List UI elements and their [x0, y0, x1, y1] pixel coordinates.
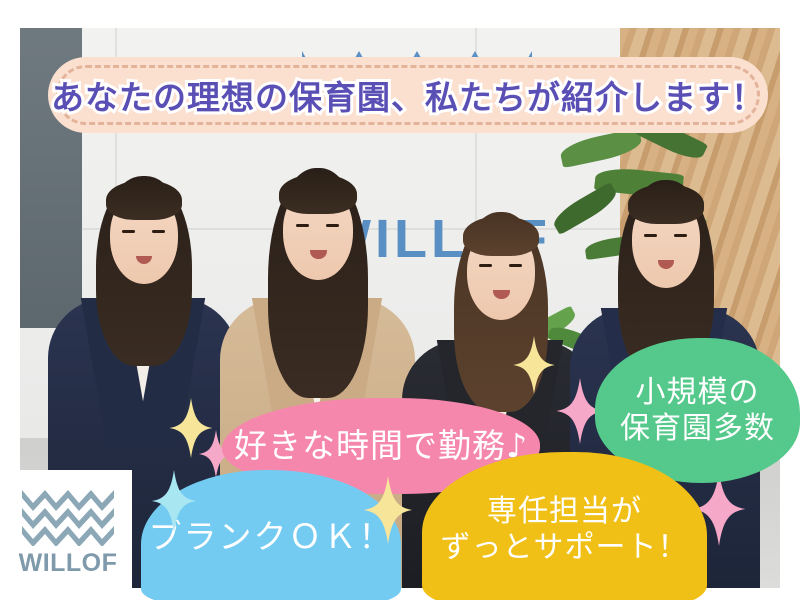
sparkle-icon [512, 336, 556, 394]
bubble-line-1: 好きな時間で勤務♪ [234, 427, 528, 466]
bubble-line-2: 保育園多数 [620, 411, 775, 446]
sparkle-icon [362, 476, 414, 544]
zigzag-wave-logo-icon [22, 488, 114, 546]
bubble-line-1: 専任担当が [441, 494, 689, 529]
headline-banner: あなたの理想の保育園、私たちが紹介します！ [48, 57, 768, 133]
bubble-line-1: 小規模の [620, 375, 775, 410]
willof-wordmark: WILLOF [19, 549, 118, 578]
bubble-line-2: ずっとサポート！ [441, 530, 689, 565]
sparkle-icon [150, 470, 198, 532]
bubble-dedicated-support: 専任担当が ずっとサポート！ [422, 452, 707, 600]
headline-text: あなたの理想の保育園、私たちが紹介します！ [51, 71, 765, 119]
poster-canvas: WILLOF [0, 0, 800, 600]
willof-logo-box: WILLOF [4, 470, 132, 596]
